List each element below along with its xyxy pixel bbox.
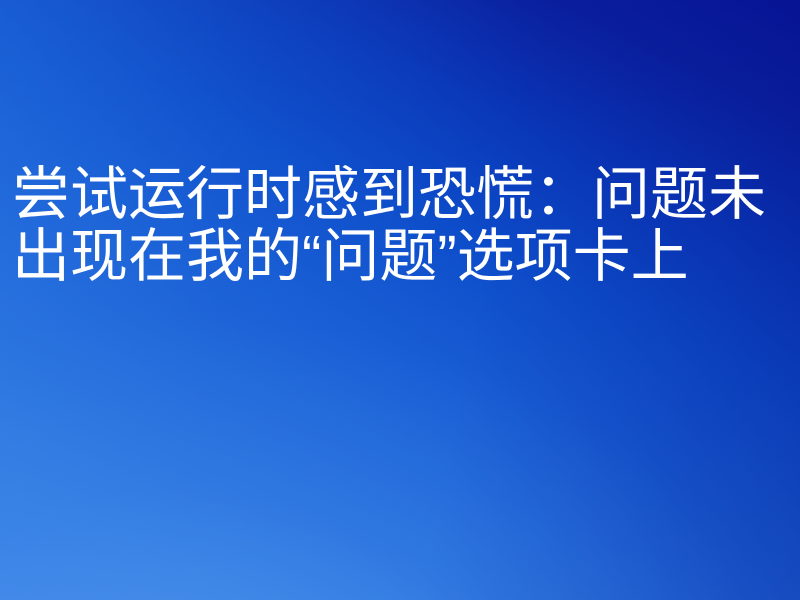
background-gradient-glow [0,0,800,600]
page-title: 尝试运行时感到恐慌：问题未出现在我的“问题”选项卡上 [12,164,794,288]
article-title-banner: 尝试运行时感到恐慌：问题未出现在我的“问题”选项卡上 [0,0,800,600]
